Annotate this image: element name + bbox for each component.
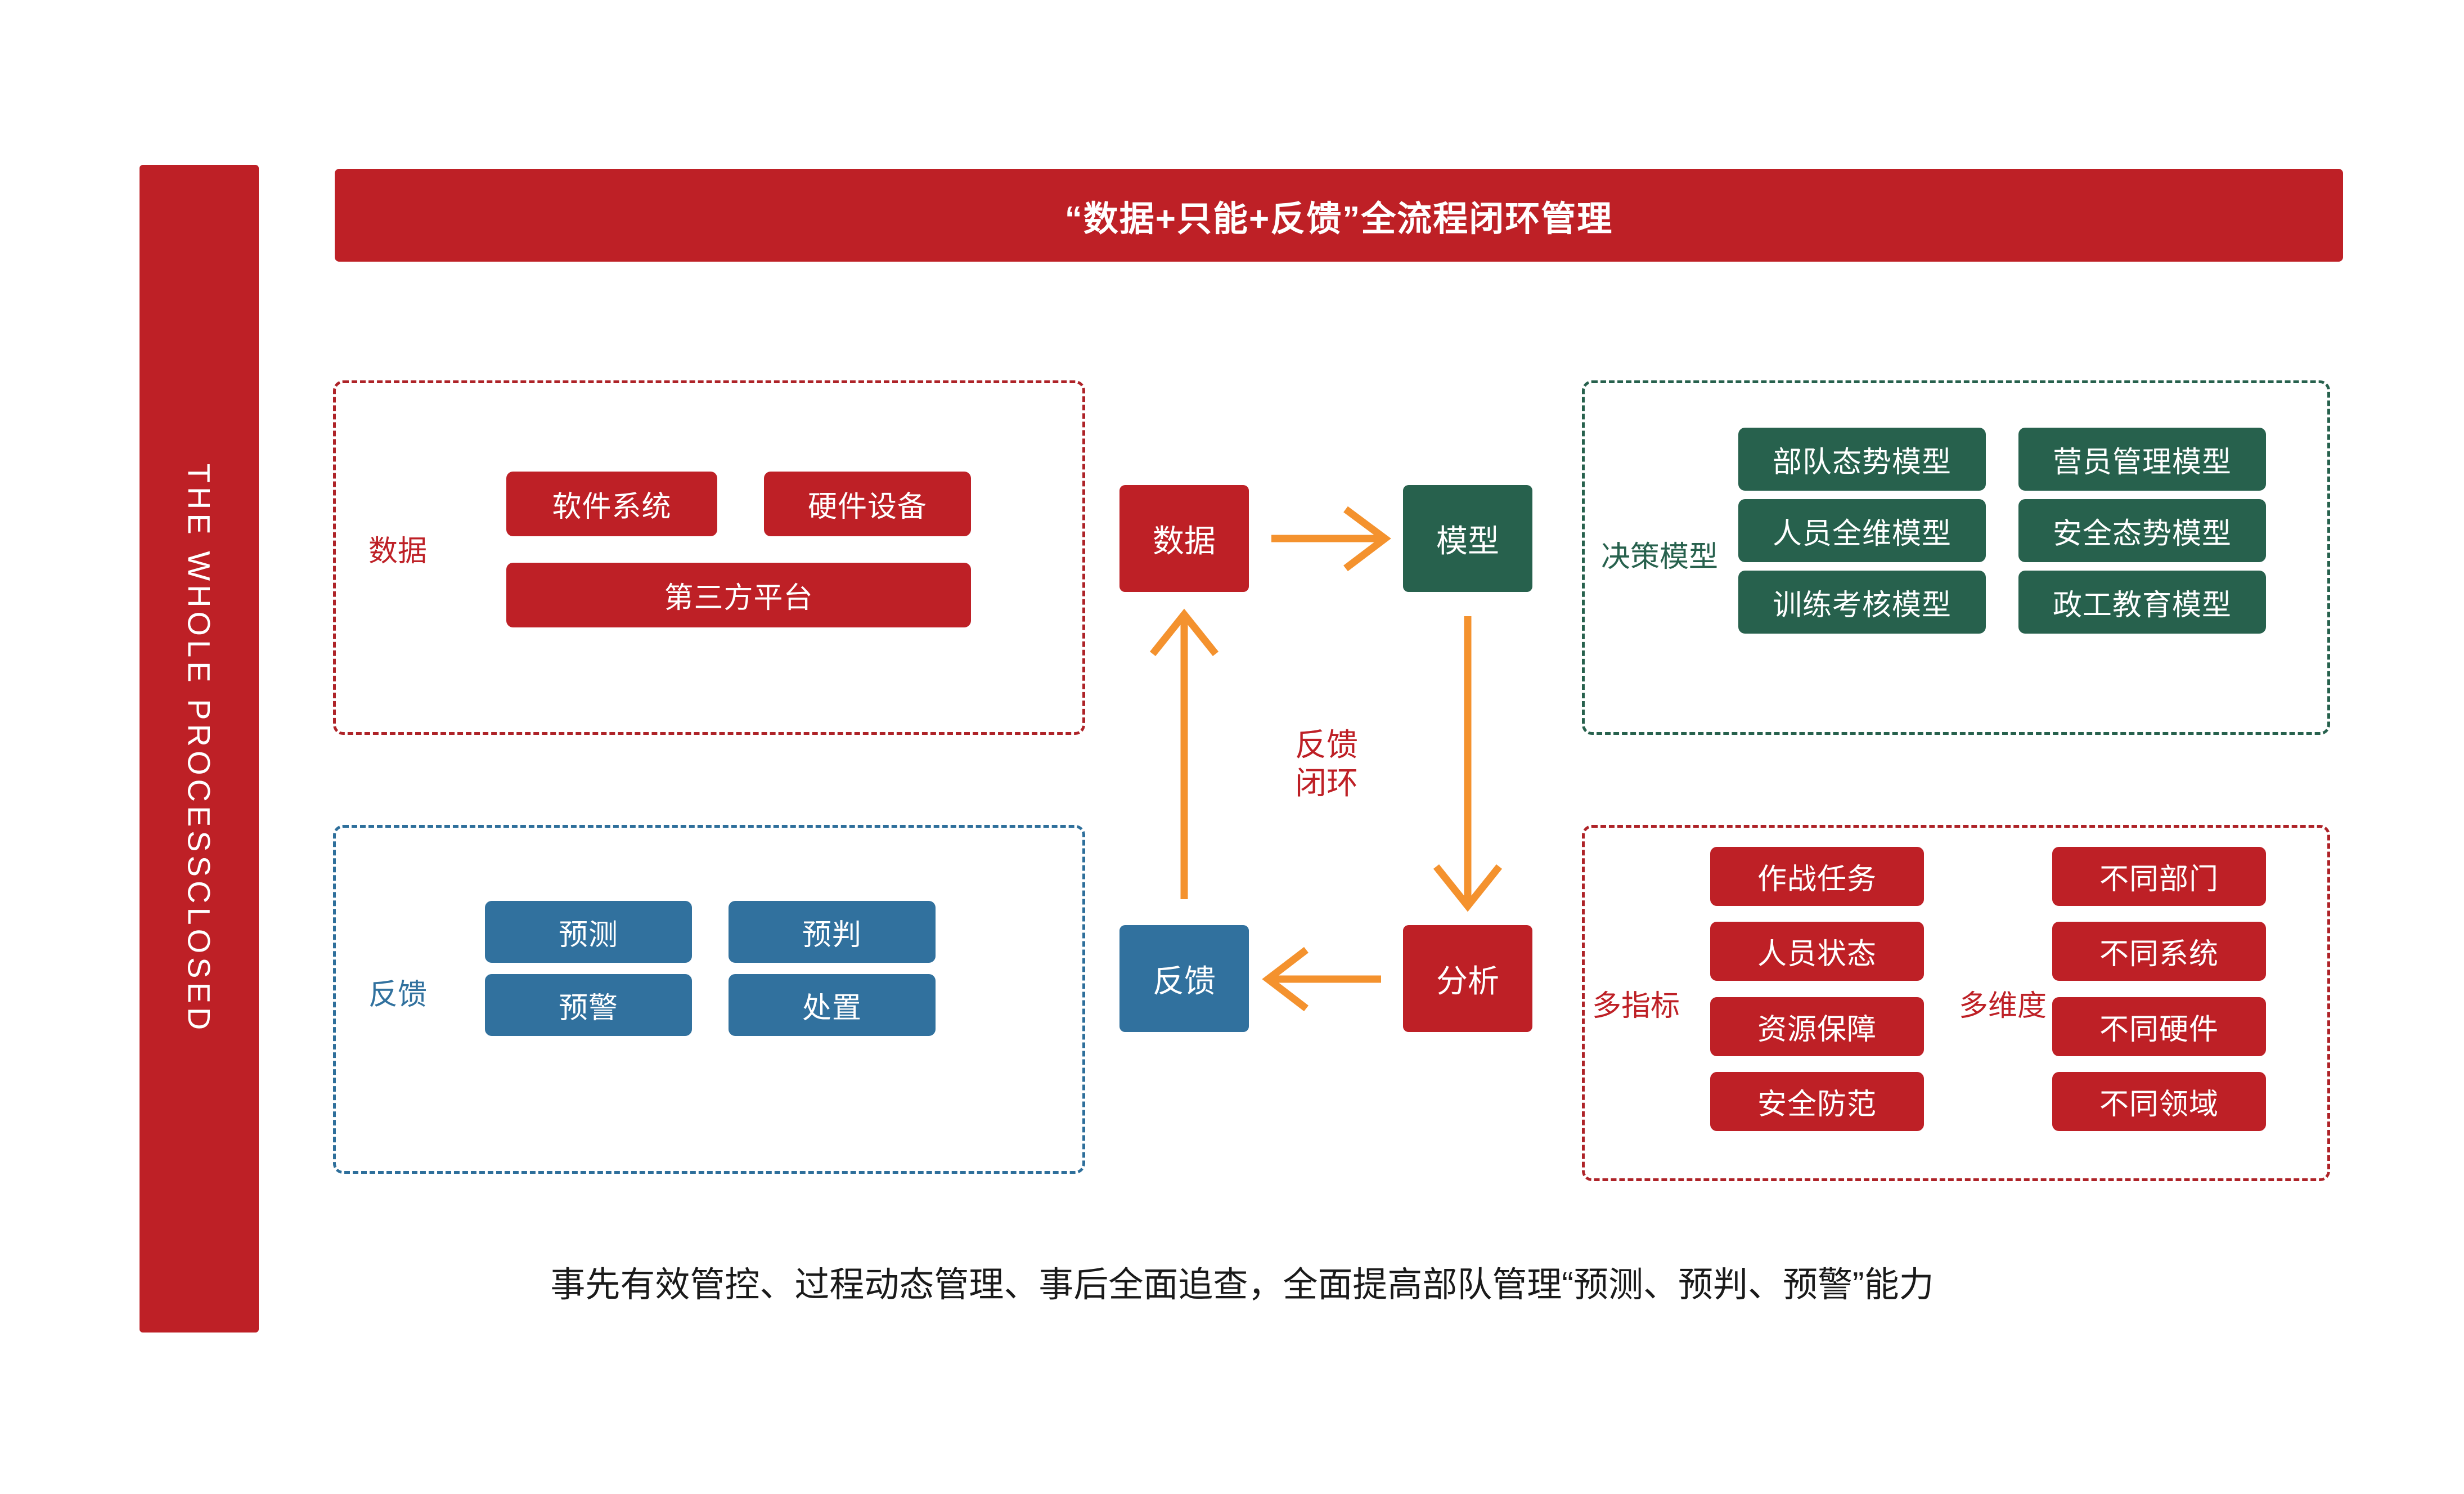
- banner: “数据+只能+反馈”全流程闭环管理: [335, 169, 2343, 262]
- chip-model-camper-management[interactable]: 营员管理模型: [2018, 428, 2266, 491]
- panel-label-multi-indicator: 多指标: [1592, 990, 1680, 1022]
- loop-label-line2: 闭环: [1276, 764, 1377, 802]
- diagram-canvas: THE WHOLE PROCESSCLOSED “数据+只能+反馈”全流程闭环管…: [0, 0, 2464, 1494]
- bottom-caption: 事先有效管控、过程动态管理、事后全面追查，全面提高部队管理“预测、预判、预警”能…: [140, 1256, 2345, 1307]
- chip-disposal[interactable]: 处置: [729, 974, 936, 1036]
- side-band-label: THE WHOLE PROCESSCLOSED: [181, 464, 218, 1034]
- chip-forecast[interactable]: 预测: [485, 901, 692, 963]
- arrow-model-to-analysis: [1436, 616, 1499, 906]
- loop-label-line1: 反馈: [1276, 726, 1377, 764]
- banner-title: “数据+只能+反馈”全流程闭环管理: [1065, 190, 1613, 241]
- chip-dimension-different-system[interactable]: 不同系统: [2052, 922, 2266, 981]
- panel-label-feedback: 反馈: [368, 979, 427, 1011]
- chip-prejudge[interactable]: 预判: [729, 901, 936, 963]
- chip-dimension-different-department[interactable]: 不同部门: [2052, 847, 2266, 906]
- node-analysis[interactable]: 分析: [1403, 925, 1532, 1032]
- chip-early-warning[interactable]: 预警: [485, 974, 692, 1036]
- loop-label: 反馈 闭环: [1276, 726, 1377, 803]
- arrow-data-to-model: [1271, 509, 1385, 568]
- panel-label-multi-dimension: 多维度: [1959, 990, 2047, 1022]
- chip-model-political-education[interactable]: 政工教育模型: [2018, 571, 2266, 634]
- node-model[interactable]: 模型: [1403, 485, 1532, 592]
- chip-dimension-different-hardware[interactable]: 不同硬件: [2052, 997, 2266, 1056]
- chip-hardware-device[interactable]: 硬件设备: [764, 472, 971, 536]
- side-band: THE WHOLE PROCESSCLOSED: [140, 165, 259, 1333]
- chip-software-system[interactable]: 软件系统: [506, 472, 717, 536]
- chip-model-training-assessment[interactable]: 训练考核模型: [1738, 571, 1986, 634]
- chip-indicator-resource-support[interactable]: 资源保障: [1710, 997, 1924, 1056]
- arrow-feedback-to-data: [1153, 614, 1216, 899]
- chip-indicator-safety-prevention[interactable]: 安全防范: [1710, 1072, 1924, 1131]
- chip-third-party-platform[interactable]: 第三方平台: [506, 563, 971, 627]
- node-data[interactable]: 数据: [1119, 485, 1249, 592]
- node-feedback[interactable]: 反馈: [1119, 925, 1249, 1032]
- chip-model-troop-situation[interactable]: 部队态势模型: [1738, 428, 1986, 491]
- chip-indicator-personnel-status[interactable]: 人员状态: [1710, 922, 1924, 981]
- chip-model-security-situation[interactable]: 安全态势模型: [2018, 499, 2266, 562]
- arrow-analysis-to-feedback: [1268, 950, 1381, 1008]
- panel-feedback: [333, 825, 1085, 1174]
- panel-label-data: 数据: [368, 536, 427, 568]
- chip-dimension-different-field[interactable]: 不同领域: [2052, 1072, 2266, 1131]
- panel-data: [333, 380, 1085, 735]
- panel-label-decision-model: 决策模型: [1601, 541, 1718, 573]
- chip-model-personnel-full-dimension[interactable]: 人员全维模型: [1738, 499, 1986, 562]
- chip-indicator-combat-mission[interactable]: 作战任务: [1710, 847, 1924, 906]
